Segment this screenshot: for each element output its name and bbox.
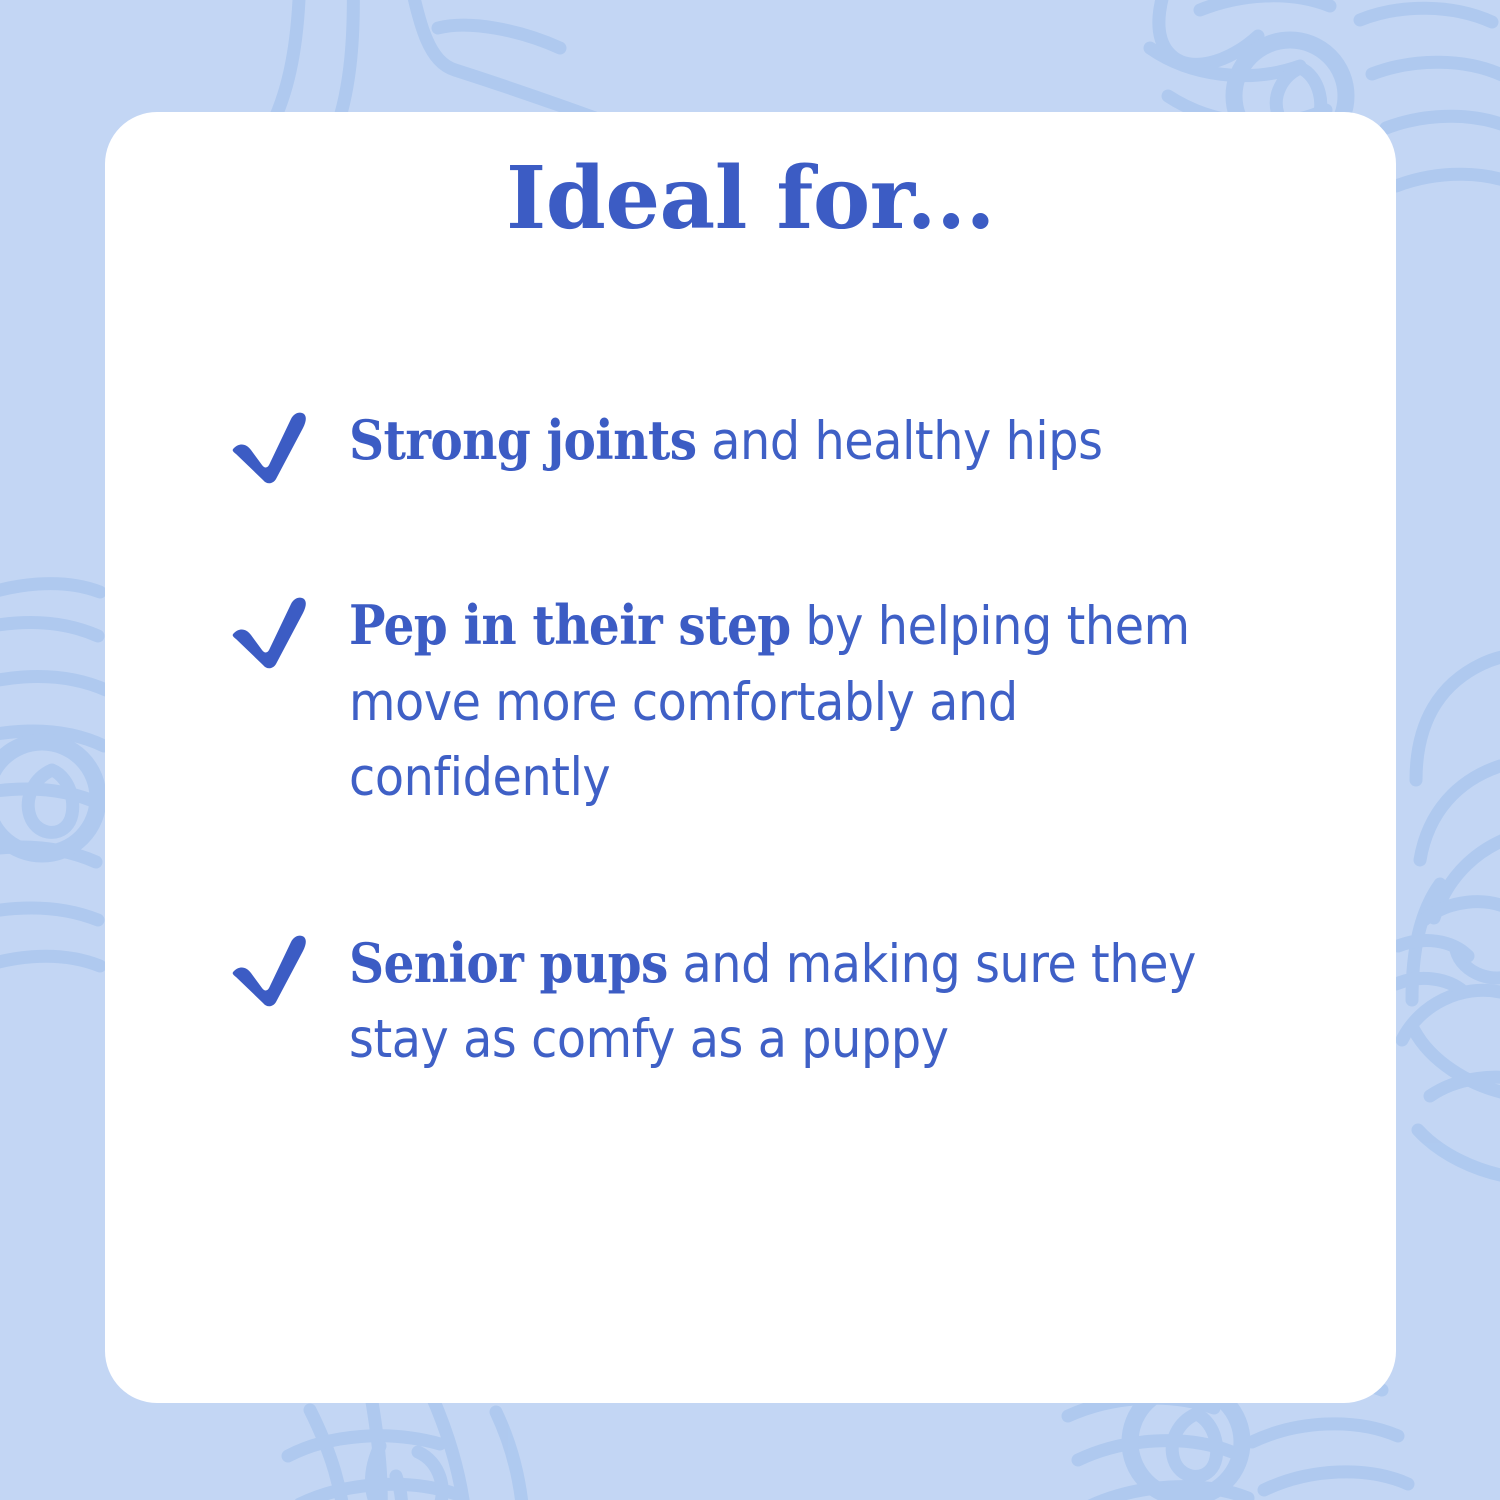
benefit-lead: Pep in their step <box>349 593 791 657</box>
content-card: Ideal for... Strong joints and healthy h… <box>105 112 1396 1403</box>
checkmark-icon <box>229 933 311 1007</box>
benefit-list: Strong joints and healthy hips Pep in th… <box>105 402 1396 1078</box>
benefit-lead: Strong joints <box>349 408 696 472</box>
product-benefits-graphic: Ideal for... Strong joints and healthy h… <box>0 0 1500 1500</box>
dog-sketch-left <box>0 584 106 976</box>
list-item: Pep in their step by helping them move m… <box>229 587 1278 815</box>
benefit-text: Pep in their step by helping them move m… <box>349 587 1278 815</box>
benefit-rest: and healthy hips <box>696 411 1102 472</box>
checkmark-icon <box>229 595 311 669</box>
benefit-lead: Senior pups <box>349 931 668 995</box>
page-title: Ideal for... <box>105 154 1396 244</box>
dog-sketch-right <box>1396 655 1500 1178</box>
list-item: Senior pups and making sure they stay as… <box>229 925 1278 1078</box>
checkmark-icon <box>229 410 311 484</box>
benefit-text: Senior pups and making sure they stay as… <box>349 925 1278 1078</box>
dog-sketch-bottom-left <box>288 1390 524 1500</box>
list-item: Strong joints and healthy hips <box>229 402 1278 479</box>
benefit-text: Strong joints and healthy hips <box>349 402 1278 479</box>
